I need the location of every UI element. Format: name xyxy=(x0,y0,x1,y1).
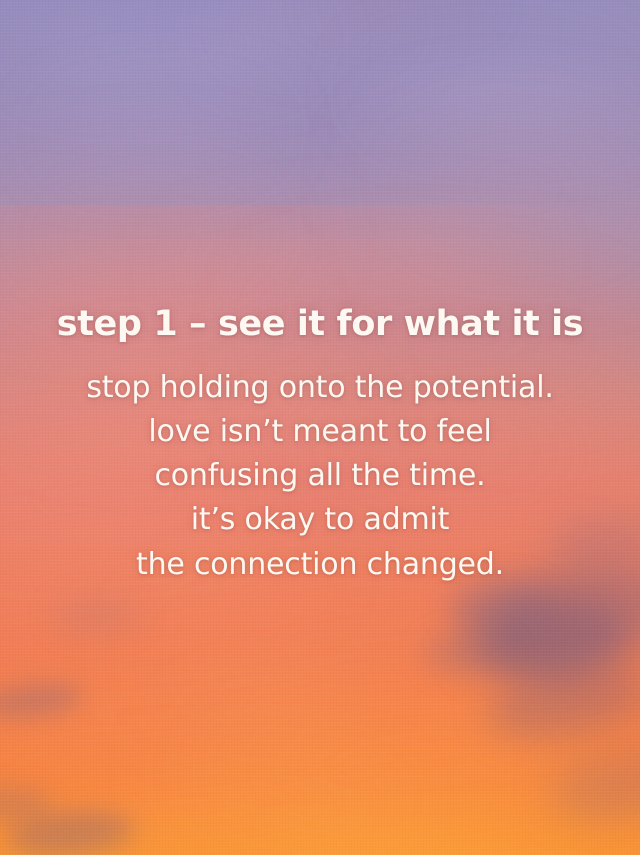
quote-body-line: confusing all the time. xyxy=(86,454,553,498)
sunset-quote-image: step 1 – see it for what it is stop hold… xyxy=(0,0,640,855)
quote-text-overlay: step 1 – see it for what it is stop hold… xyxy=(0,0,640,855)
quote-body-line: love isn’t meant to feel xyxy=(86,410,553,454)
quote-headline: step 1 – see it for what it is xyxy=(57,305,583,344)
quote-body-line: it’s okay to admit xyxy=(86,498,553,542)
quote-body-line: stop holding onto the potential. xyxy=(86,366,553,410)
quote-body: stop holding onto the potential. love is… xyxy=(86,366,553,586)
quote-body-line: the connection changed. xyxy=(86,543,553,587)
